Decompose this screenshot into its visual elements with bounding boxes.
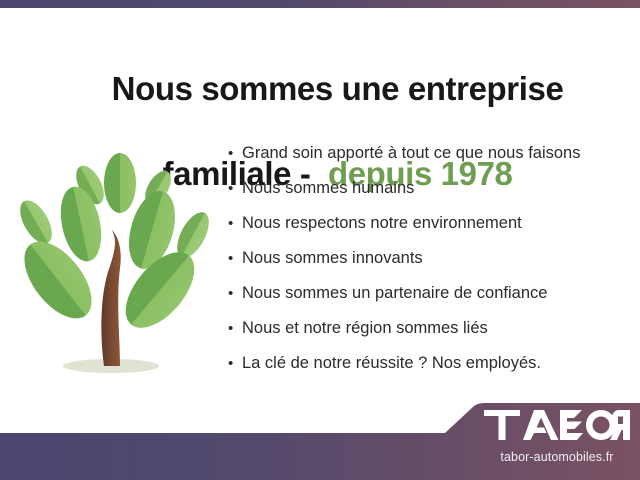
tree-illustration <box>8 150 223 385</box>
tree-trunk <box>101 230 120 366</box>
bullet-marker-icon: • <box>228 321 242 336</box>
list-item: • Nous sommes un partenaire de confiance <box>228 285 628 320</box>
bullet-marker-icon: • <box>228 216 242 231</box>
top-accent-strip <box>0 0 640 8</box>
list-item-label: Nous et notre région sommes liés <box>242 320 488 337</box>
list-item-label: Nous sommes un partenaire de confiance <box>242 285 547 302</box>
list-item: • Nous et notre région sommes liés <box>228 320 628 355</box>
list-item: • Nous sommes innovants <box>228 250 628 285</box>
list-item: • Grand soin apporté à tout ce que nous … <box>228 145 628 180</box>
list-item: • La clé de notre réussite ? Nos employé… <box>228 355 628 390</box>
bullet-marker-icon: • <box>228 356 242 371</box>
slide-canvas: Nous sommes une entreprise familiale - d… <box>0 0 640 480</box>
benefits-list: • Grand soin apporté à tout ce que nous … <box>228 145 628 390</box>
list-item-label: Nous respectons notre environnement <box>242 215 522 232</box>
bullet-marker-icon: • <box>228 146 242 161</box>
footer-bar-shape <box>0 403 640 480</box>
list-item: • Nous respectons notre environnement <box>228 215 628 250</box>
list-item-label: Nous sommes humains <box>242 180 414 197</box>
list-item-label: La clé de notre réussite ? Nos employés. <box>242 355 541 372</box>
bullet-marker-icon: • <box>228 286 242 301</box>
list-item-label: Nous sommes innovants <box>242 250 423 267</box>
list-item-label: Grand soin apporté à tout ce que nous fa… <box>242 145 580 162</box>
bullet-marker-icon: • <box>228 181 242 196</box>
headline-line-1: Nous sommes une entreprise <box>112 70 564 107</box>
list-item: • Nous sommes humains <box>228 180 628 215</box>
footer-bar <box>0 400 640 480</box>
bullet-marker-icon: • <box>228 251 242 266</box>
